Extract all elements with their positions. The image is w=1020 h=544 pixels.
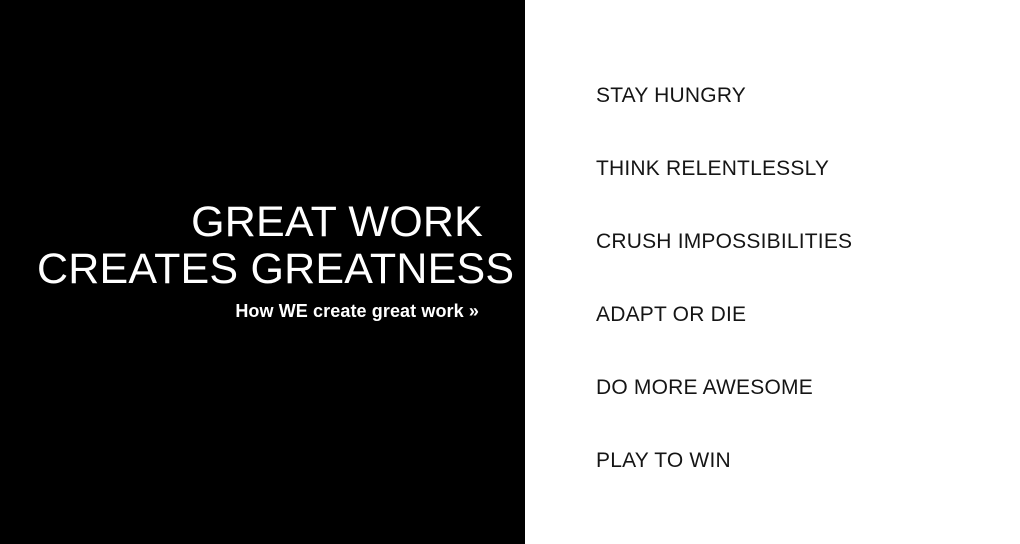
list-item: PLAY TO WIN xyxy=(596,449,852,522)
list-item: THINK RELENTLESSLY xyxy=(596,157,852,230)
list-item: ADAPT OR DIE xyxy=(596,303,852,376)
headline-line-2: CREATES GREATNESS xyxy=(37,246,483,293)
headline-subtitle-link[interactable]: How WE create great work » xyxy=(37,300,479,322)
headline-line-1: GREAT WORK xyxy=(37,199,483,246)
left-dark-panel: GREAT WORK CREATES GREATNESS How WE crea… xyxy=(0,0,525,544)
right-light-panel: STAY HUNGRY THINK RELENTLESSLY CRUSH IMP… xyxy=(525,0,1020,544)
list-item: DO MORE AWESOME xyxy=(596,376,852,449)
list-item: CRUSH IMPOSSIBILITIES xyxy=(596,230,852,303)
headline-block: GREAT WORK CREATES GREATNESS How WE crea… xyxy=(37,199,483,322)
list-item: STAY HUNGRY xyxy=(596,84,852,157)
slide-canvas: GREAT WORK CREATES GREATNESS How WE crea… xyxy=(0,0,1020,544)
principles-list: STAY HUNGRY THINK RELENTLESSLY CRUSH IMP… xyxy=(596,84,852,522)
